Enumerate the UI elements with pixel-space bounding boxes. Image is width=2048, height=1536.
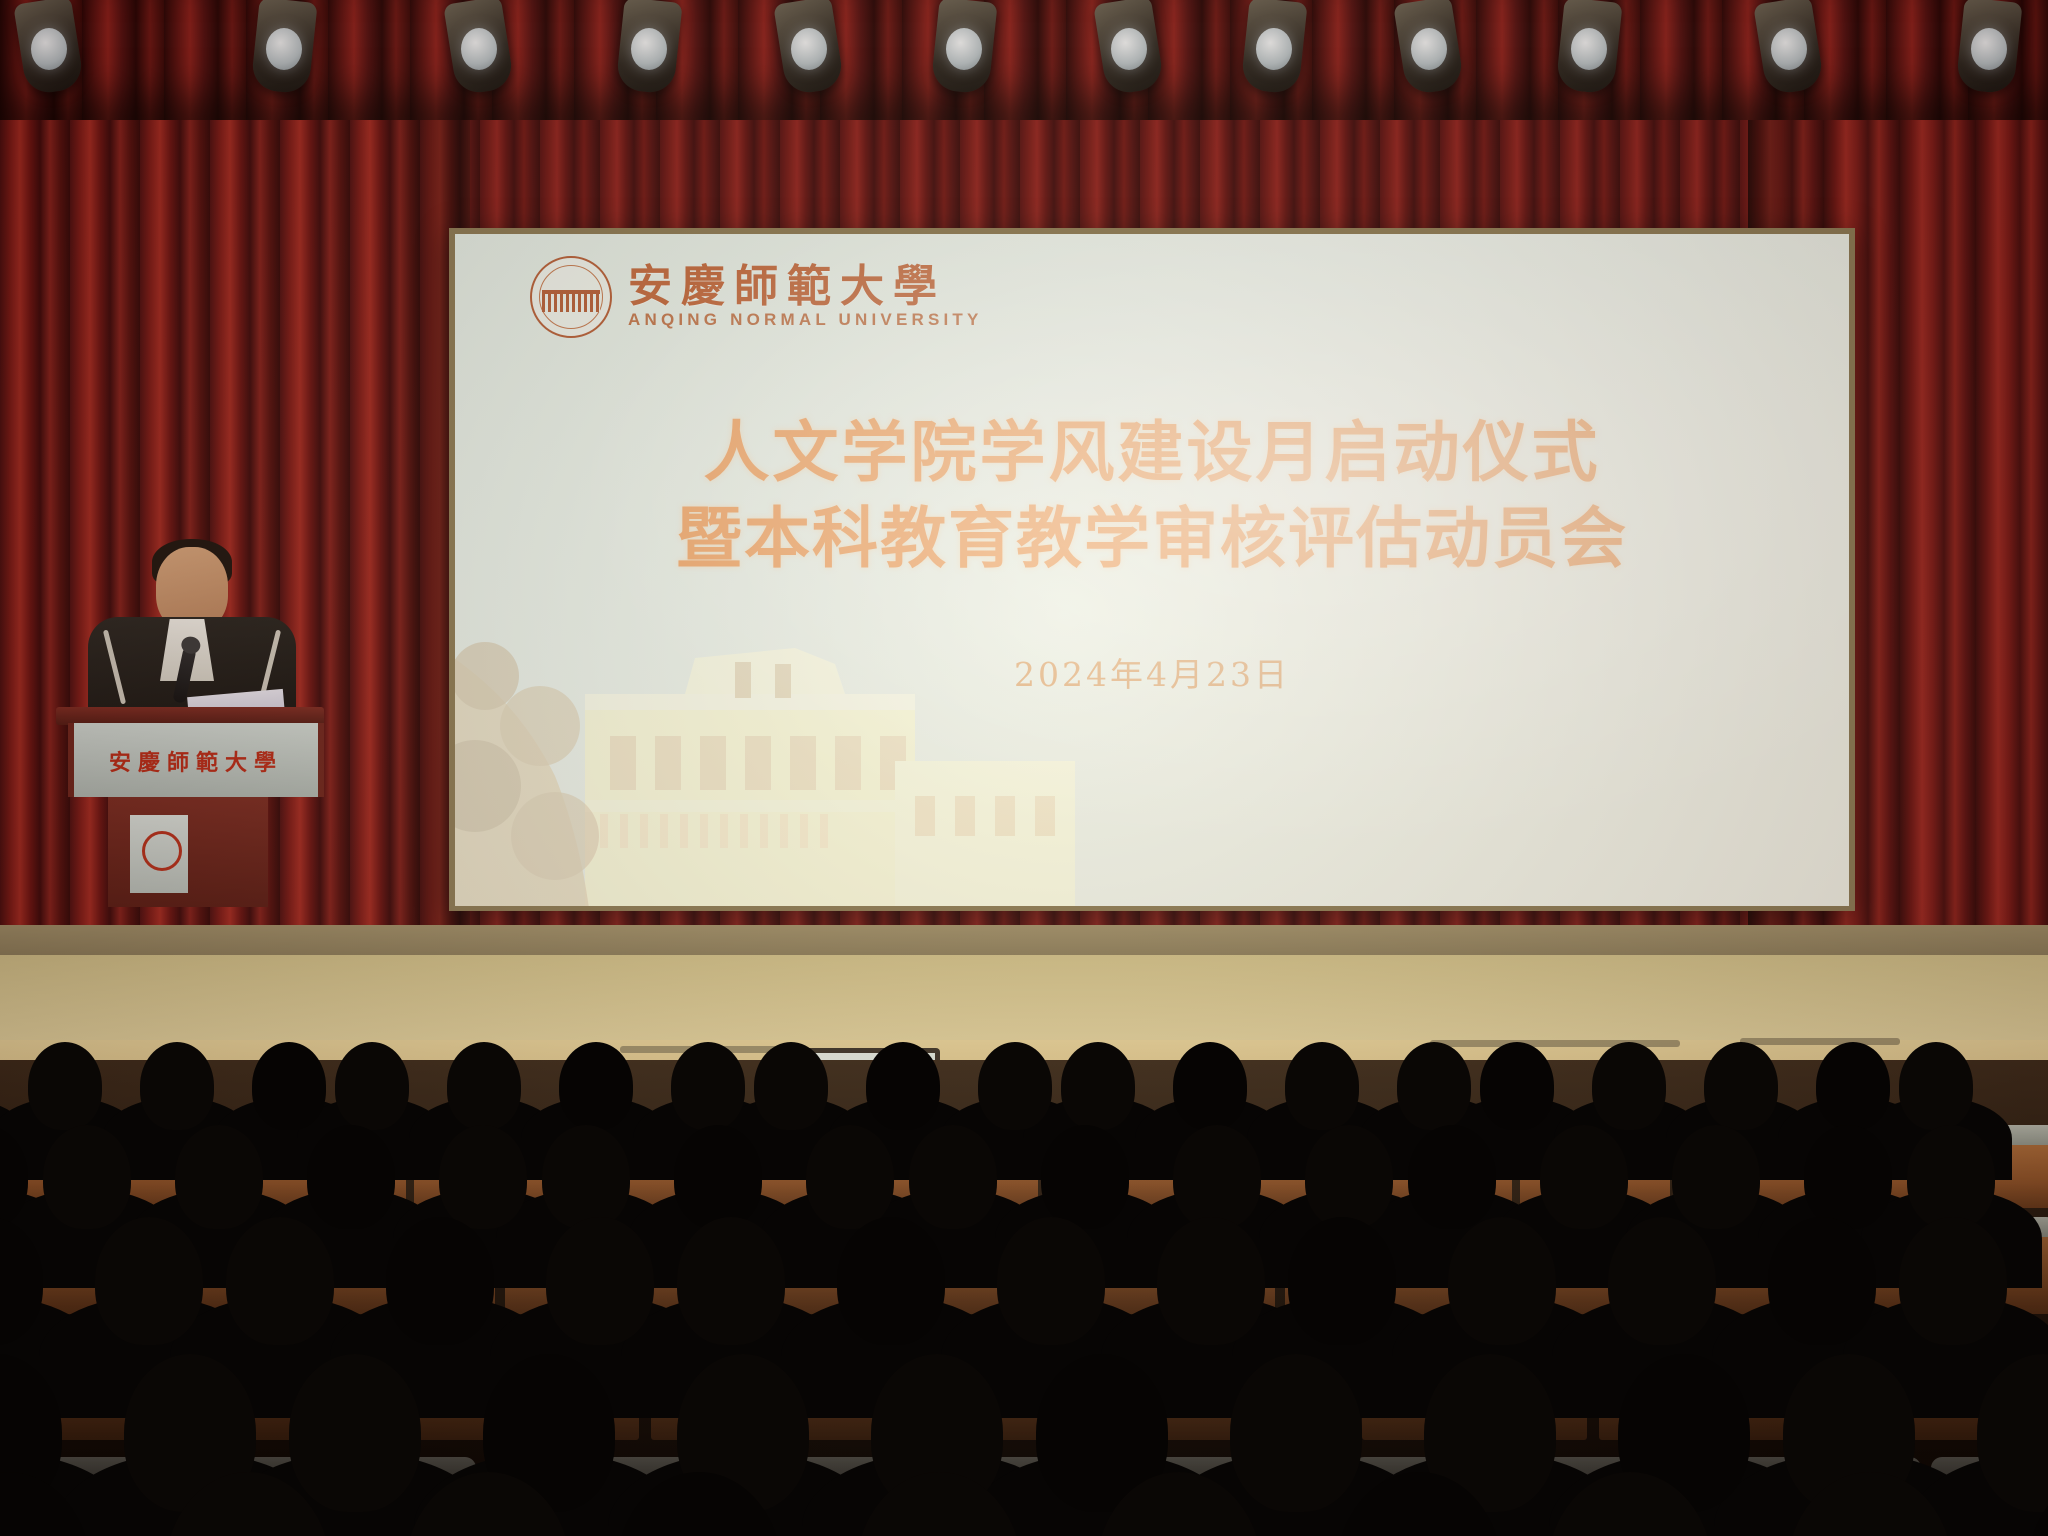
audience-member-head xyxy=(175,1125,263,1229)
crest-building-glyph xyxy=(542,290,600,312)
spotlight-lens xyxy=(461,28,497,70)
audience-member-head xyxy=(542,1125,630,1229)
stage-spotlight-icon xyxy=(255,0,313,92)
campus-building-watermark xyxy=(455,586,1075,906)
audience-member-head xyxy=(1408,1125,1496,1229)
audience-member-head xyxy=(439,1125,527,1229)
stage-spotlight-icon xyxy=(450,0,508,92)
stage-spotlight-icon xyxy=(1245,0,1303,92)
projection-screen: 安慶師範大學 ANQING NORMAL UNIVERSITY 人文学院学风建设… xyxy=(455,234,1849,906)
stage-spotlight-icon xyxy=(1760,0,1818,92)
audience-member-head xyxy=(754,1042,828,1130)
slide-date: 2024年4月23日 xyxy=(455,648,1849,696)
audience-member-head xyxy=(386,1217,494,1345)
audience-member-head xyxy=(677,1217,785,1345)
stage-spotlight-icon xyxy=(1560,0,1618,92)
podium-front-panel: 安慶師範大學 xyxy=(68,723,324,797)
spotlight-lens xyxy=(1771,28,1807,70)
audience-member-head xyxy=(1608,1217,1716,1345)
auditorium-photo-scene: 安慶師範大學 ANQING NORMAL UNIVERSITY 人文学院学风建设… xyxy=(0,0,2048,1536)
audience-member-head xyxy=(1672,1125,1760,1229)
slide-title-line-1: 人文学院学风建设月启动仪式 xyxy=(455,410,1849,496)
audience-member-head xyxy=(1173,1042,1247,1130)
stage-spotlight-icon xyxy=(1960,0,2018,92)
curtain-left-panel xyxy=(0,0,470,1085)
stage-spotlight-icon xyxy=(780,0,838,92)
audience-seating-area: 1210 xyxy=(0,1060,2048,1536)
audience-member-head xyxy=(1804,1125,1892,1229)
spotlight-lens xyxy=(266,28,302,70)
audience-member-head xyxy=(447,1042,521,1130)
spotlight-lens xyxy=(631,28,667,70)
audience-member-head xyxy=(1816,1042,1890,1130)
audience-member-head xyxy=(674,1125,762,1229)
slide-title-line-2: 暨本科教育教学审核评估动员会 xyxy=(455,496,1849,582)
spotlight-lens xyxy=(791,28,827,70)
logo-chinese-name: 安慶師範大學 xyxy=(628,265,983,309)
audience-member-head xyxy=(1288,1217,1396,1345)
audience-member-head xyxy=(1230,1354,1362,1512)
audience-member-head xyxy=(95,1217,203,1345)
audience-member-head xyxy=(1899,1217,2007,1345)
logo-english-name: ANQING NORMAL UNIVERSITY xyxy=(628,310,983,330)
audience-member-head xyxy=(335,1042,409,1130)
audience-member-head xyxy=(546,1217,654,1345)
podium-inscription: 安慶師範大學 xyxy=(74,745,318,777)
audience-member-head xyxy=(837,1217,945,1345)
audience-member-head xyxy=(1397,1042,1471,1130)
stage-wall-panel xyxy=(0,955,2048,1045)
slide-university-logo: 安慶師範大學 ANQING NORMAL UNIVERSITY xyxy=(530,256,983,338)
podium-seal-plaque xyxy=(130,815,188,893)
audience-member-head xyxy=(1061,1042,1135,1130)
audience-member-head xyxy=(289,1354,421,1512)
audience-member-head xyxy=(226,1217,334,1345)
audience-member-head xyxy=(806,1125,894,1229)
audience-member-head xyxy=(43,1125,131,1229)
podium-and-speaker: 安慶師範大學 xyxy=(60,575,320,875)
audience-member-head xyxy=(1899,1042,1973,1130)
audience-member-head xyxy=(1041,1125,1129,1229)
audience-member-head xyxy=(997,1217,1105,1345)
audience-member-head xyxy=(1540,1125,1628,1229)
slide-title-block: 人文学院学风建设月启动仪式 暨本科教育教学审核评估动员会 xyxy=(455,410,1849,582)
audience-member-head xyxy=(1173,1125,1261,1229)
audience-member-head xyxy=(1157,1217,1265,1345)
audience-member-head xyxy=(1285,1042,1359,1130)
audience-member-head xyxy=(252,1042,326,1130)
audience-member-head xyxy=(28,1042,102,1130)
audience-member-head xyxy=(866,1042,940,1130)
jacket-stripe-left xyxy=(103,630,126,705)
audience-member-head xyxy=(671,1042,745,1130)
audience-member-head xyxy=(1704,1042,1778,1130)
audience-member-head xyxy=(140,1042,214,1130)
audience-member-head xyxy=(559,1042,633,1130)
spotlight-lens xyxy=(1256,28,1292,70)
stage-spotlight-icon xyxy=(620,0,678,92)
stage-spotlight-icon xyxy=(1100,0,1158,92)
spotlight-lens xyxy=(31,28,67,70)
audience-member-head xyxy=(1480,1042,1554,1130)
audience-member-head xyxy=(1907,1125,1995,1229)
audience-member-head xyxy=(978,1042,1052,1130)
audience-member-head xyxy=(1768,1217,1876,1345)
audience-member-head xyxy=(1305,1125,1393,1229)
spotlight-lens xyxy=(1571,28,1607,70)
spotlight-lens xyxy=(946,28,982,70)
spotlight-lens xyxy=(1971,28,2007,70)
spotlight-lens xyxy=(1411,28,1447,70)
stage-spotlight-icon xyxy=(1400,0,1458,92)
audience-member-head xyxy=(1448,1217,1556,1345)
spotlight-lens xyxy=(1111,28,1147,70)
audience-member-head xyxy=(909,1125,997,1229)
stage-spotlight-icon xyxy=(20,0,78,92)
stage-spotlight-icon xyxy=(935,0,993,92)
stage-edge-rail-far-right xyxy=(1740,1038,1900,1045)
university-crest-icon xyxy=(530,256,612,338)
audience-member-head xyxy=(307,1125,395,1229)
audience-member-head xyxy=(1592,1042,1666,1130)
